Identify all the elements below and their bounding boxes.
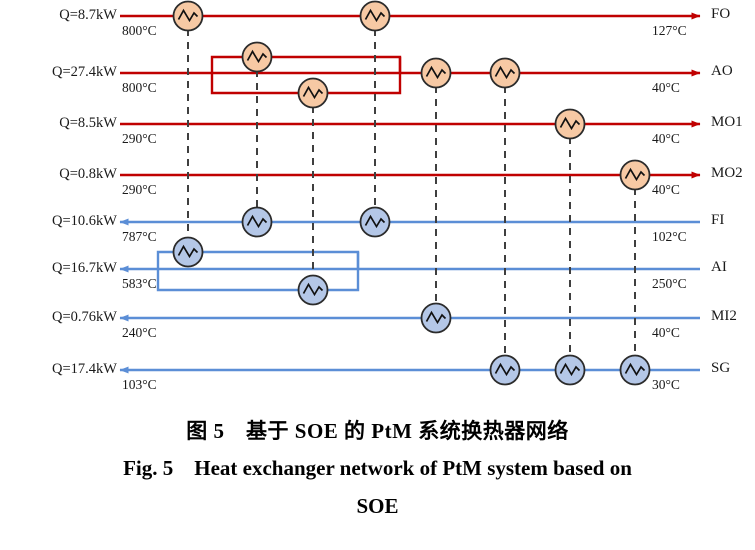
outlet-temp-FI: 102°C <box>652 230 687 244</box>
hx-sg-3[interactable] <box>621 356 650 385</box>
hx-mo1-1-circle[interactable] <box>556 110 585 139</box>
stream-name-MI2: MI2 <box>711 309 737 324</box>
inlet-temp-MO1: 290°C <box>122 132 157 146</box>
inlet-temp-MI2: 240°C <box>122 326 157 340</box>
hx-fo-1-circle[interactable] <box>174 2 203 31</box>
hx-ai-branch-lower-circle[interactable] <box>299 276 328 305</box>
outlet-temp-MO1: 40°C <box>652 132 680 146</box>
hx-ao-3-circle[interactable] <box>422 59 451 88</box>
stream-lines-layer <box>120 16 700 370</box>
hx-fi-1-circle[interactable] <box>243 208 272 237</box>
stream-name-AO: AO <box>711 64 733 79</box>
hx-fi-2-circle[interactable] <box>361 208 390 237</box>
hen-svg <box>0 0 755 410</box>
hx-ai-branch-upper-circle[interactable] <box>174 238 203 267</box>
outlet-temp-MO2: 40°C <box>652 183 680 197</box>
hx-mo2-1-circle[interactable] <box>621 161 650 190</box>
hx-sg-3-circle[interactable] <box>621 356 650 385</box>
hen-diagram: Q=8.7kW800°C127°CFOQ=27.4kW800°C40°CAOQ=… <box>0 0 755 410</box>
exchangers-layer <box>174 2 650 385</box>
hx-fo-2[interactable] <box>361 2 390 31</box>
duty-label-AO: Q=27.4kW <box>52 65 117 80</box>
duty-label-MO1: Q=8.5kW <box>59 116 117 131</box>
hx-fo-1[interactable] <box>174 2 203 31</box>
inlet-temp-FO: 800°C <box>122 24 157 38</box>
inlet-temp-AO: 800°C <box>122 81 157 95</box>
hx-ai-branch-lower[interactable] <box>299 276 328 305</box>
caption-english-line1: Fig. 5 Heat exchanger network of PtM sys… <box>0 456 755 481</box>
outlet-temp-MI2: 40°C <box>652 326 680 340</box>
hx-ao-4[interactable] <box>491 59 520 88</box>
duty-label-MI2: Q=0.76kW <box>52 310 117 325</box>
caption-english-line2: SOE <box>0 494 755 519</box>
hx-sg-1[interactable] <box>491 356 520 385</box>
hx-mo1-1[interactable] <box>556 110 585 139</box>
duty-label-SG: Q=17.4kW <box>52 362 117 377</box>
duty-label-MO2: Q=0.8kW <box>59 167 117 182</box>
hx-mi2-1-circle[interactable] <box>422 304 451 333</box>
stream-name-MO1: MO1 <box>711 115 743 130</box>
stream-name-SG: SG <box>711 361 730 376</box>
inlet-temp-AI: 583°C <box>122 277 157 291</box>
hx-mi2-1[interactable] <box>422 304 451 333</box>
inlet-temp-SG: 103°C <box>122 378 157 392</box>
hx-ao-branch-lower-circle[interactable] <box>299 79 328 108</box>
inlet-temp-MO2: 290°C <box>122 183 157 197</box>
hx-ao-branch-upper-circle[interactable] <box>243 43 272 72</box>
duty-label-FI: Q=10.6kW <box>52 214 117 229</box>
hx-fo-2-circle[interactable] <box>361 2 390 31</box>
hx-sg-2-circle[interactable] <box>556 356 585 385</box>
outlet-temp-AO: 40°C <box>652 81 680 95</box>
hx-sg-1-circle[interactable] <box>491 356 520 385</box>
figure-root: Q=8.7kW800°C127°CFOQ=27.4kW800°C40°CAOQ=… <box>0 0 755 550</box>
inlet-temp-FI: 787°C <box>122 230 157 244</box>
hx-ao-3[interactable] <box>422 59 451 88</box>
stream-name-AI: AI <box>711 260 727 275</box>
hx-fi-1[interactable] <box>243 208 272 237</box>
hx-ao-branch-upper[interactable] <box>243 43 272 72</box>
hx-mo2-1[interactable] <box>621 161 650 190</box>
hx-ai-branch-upper[interactable] <box>174 238 203 267</box>
outlet-temp-FO: 127°C <box>652 24 687 38</box>
duty-label-AI: Q=16.7kW <box>52 261 117 276</box>
hx-fi-2[interactable] <box>361 208 390 237</box>
hx-sg-2[interactable] <box>556 356 585 385</box>
hx-ao-4-circle[interactable] <box>491 59 520 88</box>
stream-name-MO2: MO2 <box>711 166 743 181</box>
stream-name-FO: FO <box>711 7 730 22</box>
outlet-temp-SG: 30°C <box>652 378 680 392</box>
hx-ao-branch-lower[interactable] <box>299 79 328 108</box>
caption-chinese: 图 5 基于 SOE 的 PtM 系统换热器网络 <box>0 415 755 445</box>
outlet-temp-AI: 250°C <box>652 277 687 291</box>
stream-name-FI: FI <box>711 213 724 228</box>
duty-label-FO: Q=8.7kW <box>59 8 117 23</box>
